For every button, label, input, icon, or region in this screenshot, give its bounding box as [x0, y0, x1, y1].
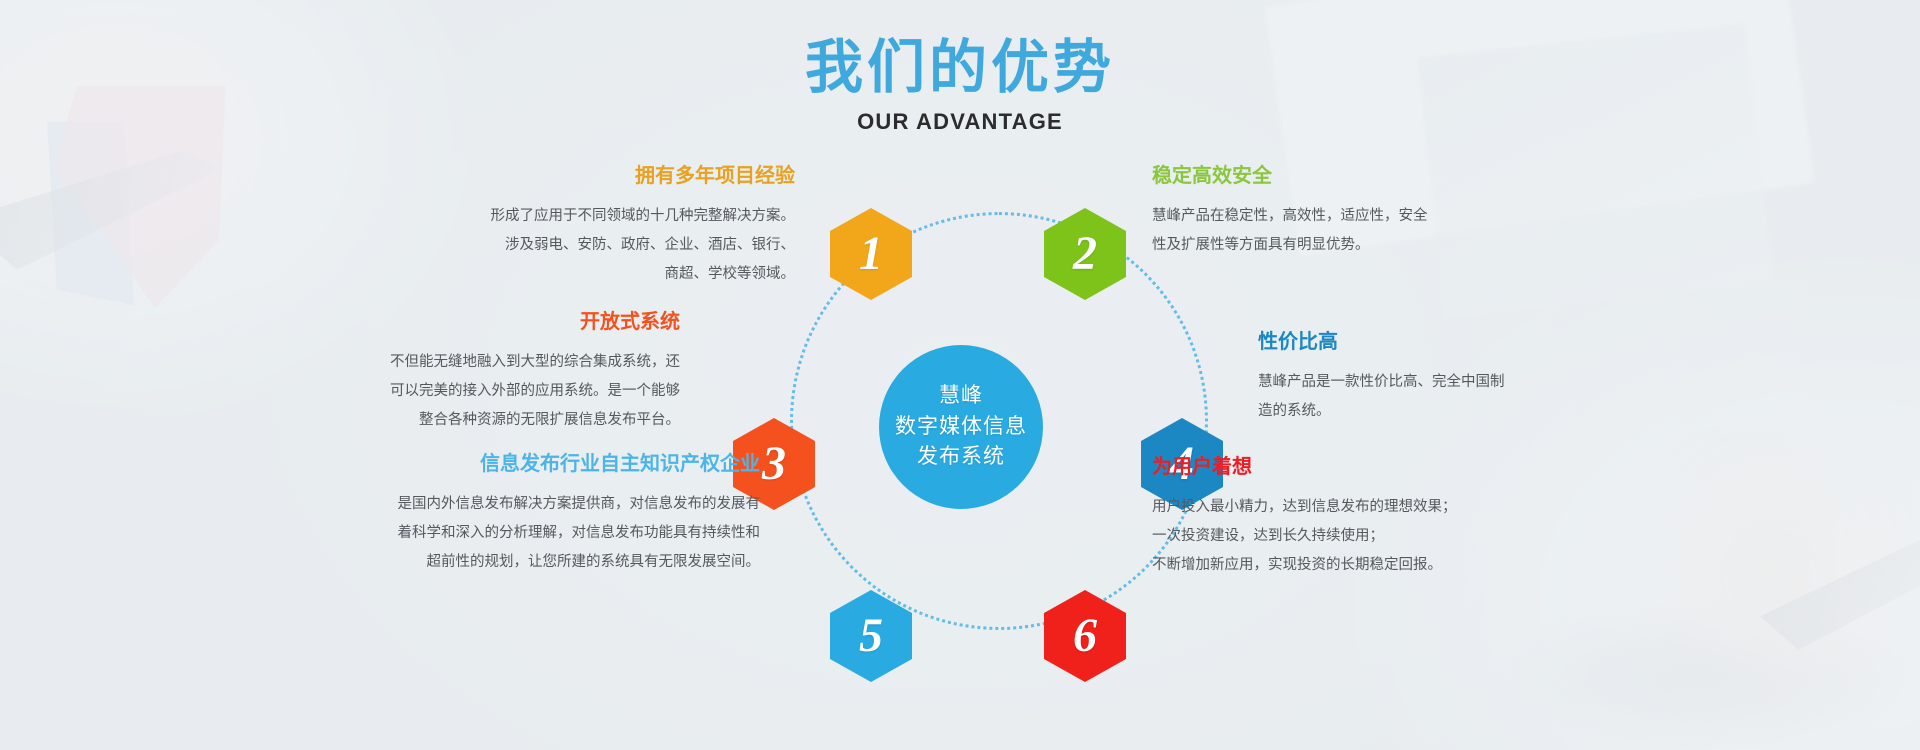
advantage-title-3: 开放式系统	[260, 310, 680, 334]
advantage-item-1: 拥有多年项目经验 形成了应用于不同领域的十几种完整解决方案。 涉及弱电、安防、政…	[375, 164, 795, 289]
advantage-item-3: 开放式系统 不但能无缝地融入到大型的综合集成系统，还 可以完美的接入外部的应用系…	[260, 310, 680, 435]
page-title-en: OUR ADVANTAGE	[0, 109, 1920, 135]
advantage-body-6: 用户投入最小精力，达到信息发布的理想效果； 一次投资建设，达到长久持续使用； 不…	[1152, 493, 1592, 580]
advantage-body-4: 慧峰产品是一款性价比高、完全中国制 造的系统。	[1258, 368, 1658, 426]
center-line-3: 发布系统	[917, 442, 1005, 472]
hex-number-1: 1	[859, 230, 883, 278]
advantage-body-3: 不但能无缝地融入到大型的综合集成系统，还 可以完美的接入外部的应用系统。是一个能…	[260, 348, 680, 435]
advantage-item-2: 稳定高效安全 慧峰产品在稳定性，高效性，适应性，安全 性及扩展性等方面具有明显优…	[1152, 164, 1572, 260]
advantage-body-5: 是国内外信息发布解决方案提供商，对信息发布的发展有 着科学和深入的分析理解，对信…	[300, 490, 760, 577]
hex-number-5: 5	[859, 612, 883, 660]
advantage-title-4: 性价比高	[1258, 330, 1658, 354]
hex-number-3: 3	[762, 440, 786, 488]
advantage-title-6: 为用户着想	[1152, 455, 1592, 479]
advantage-body-2: 慧峰产品在稳定性，高效性，适应性，安全 性及扩展性等方面具有明显优势。	[1152, 202, 1572, 260]
hex-number-6: 6	[1073, 612, 1097, 660]
hex-number-2: 2	[1073, 230, 1097, 278]
center-line-1: 慧峰	[939, 381, 983, 411]
advantage-item-4: 性价比高 慧峰产品是一款性价比高、完全中国制 造的系统。	[1258, 330, 1658, 426]
center-circle-logo: 慧峰 数字媒体信息 发布系统	[879, 345, 1043, 509]
advantage-item-5: 信息发布行业自主知识产权企业 是国内外信息发布解决方案提供商，对信息发布的发展有…	[300, 452, 760, 577]
page-header: 我们的优势 OUR ADVANTAGE	[0, 38, 1920, 135]
advantage-body-1: 形成了应用于不同领域的十几种完整解决方案。 涉及弱电、安防、政府、企业、酒店、银…	[375, 202, 795, 289]
advantage-title-2: 稳定高效安全	[1152, 164, 1572, 188]
advantage-item-6: 为用户着想 用户投入最小精力，达到信息发布的理想效果； 一次投资建设，达到长久持…	[1152, 455, 1592, 580]
advantage-title-1: 拥有多年项目经验	[375, 164, 795, 188]
center-line-2: 数字媒体信息	[895, 412, 1027, 442]
page-title-cn: 我们的优势	[0, 38, 1920, 99]
advantage-title-5: 信息发布行业自主知识产权企业	[300, 452, 760, 476]
